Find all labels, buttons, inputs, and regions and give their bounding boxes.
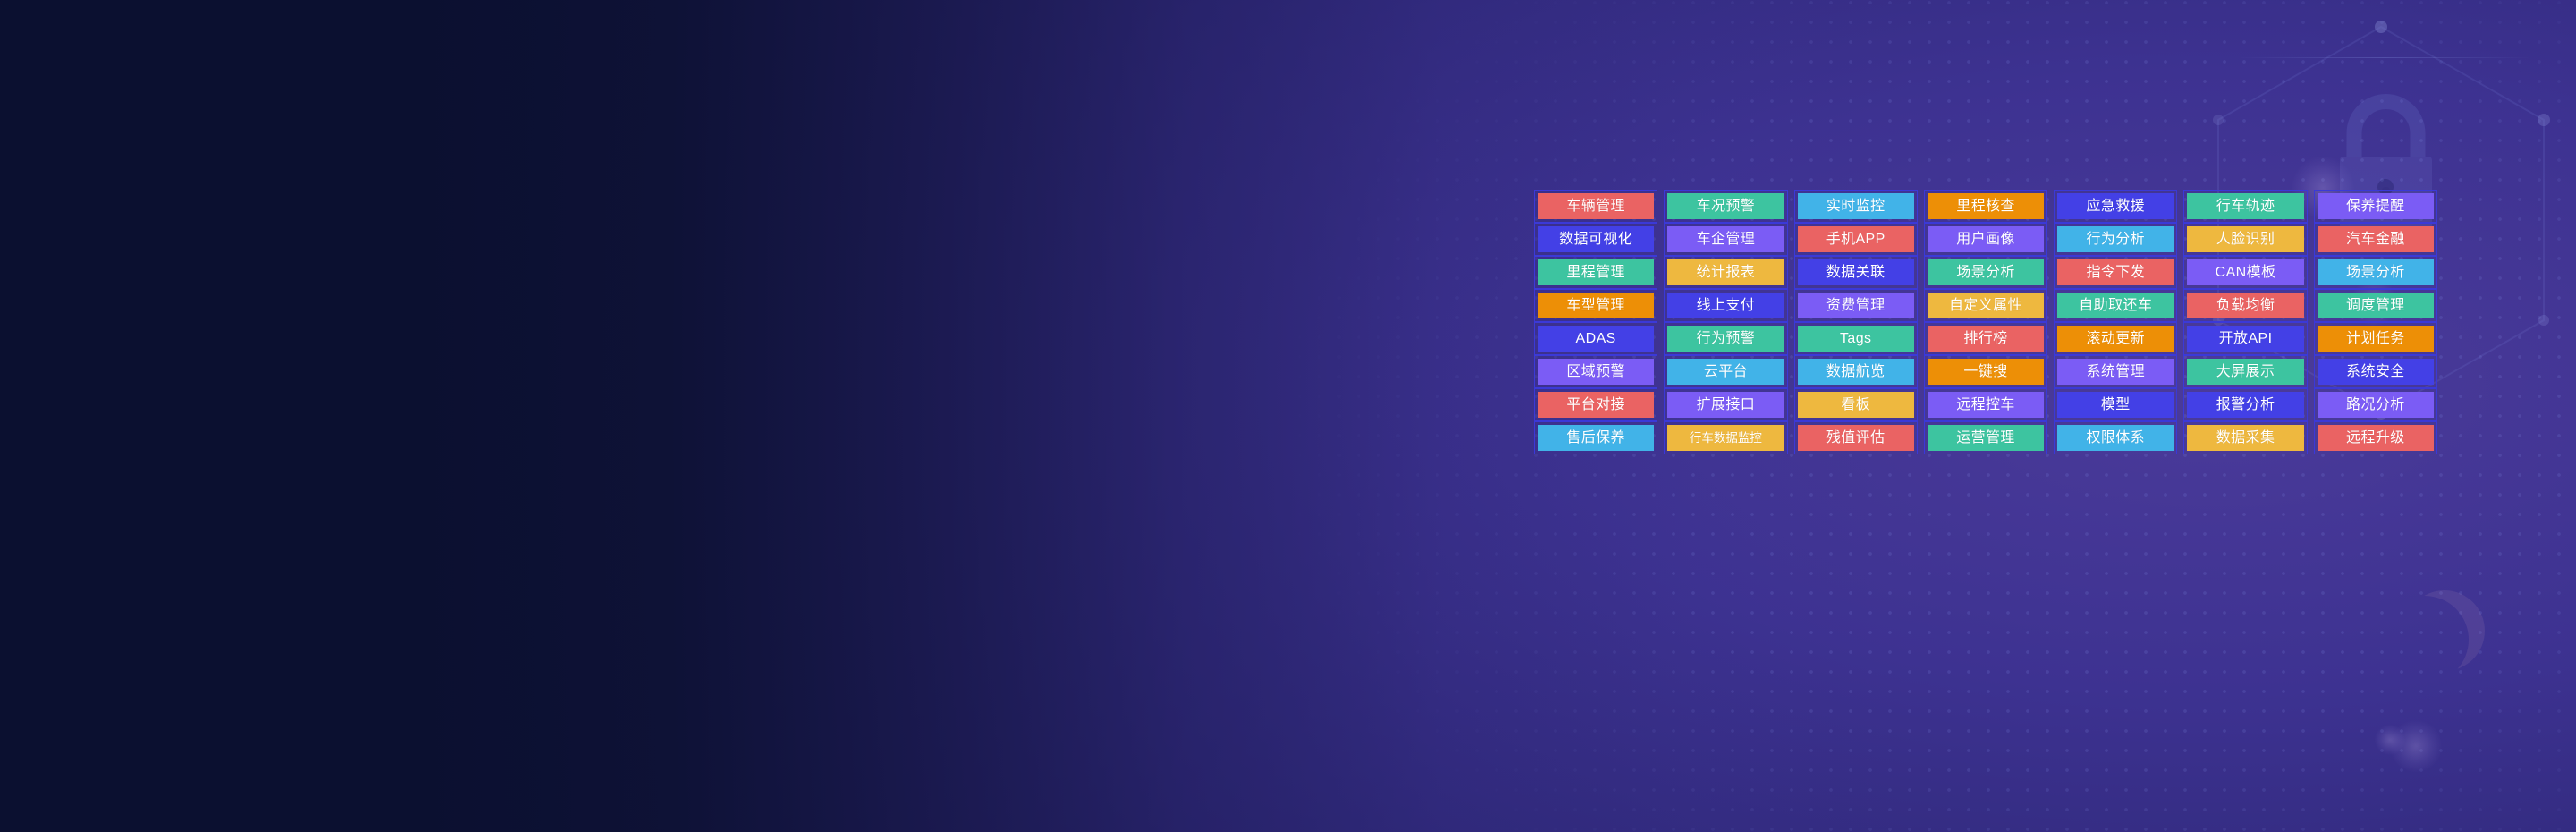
tag-label: 大屏展示 — [2187, 359, 2303, 385]
tag-label: 售后保养 — [1538, 425, 1654, 451]
tag-label: 车型管理 — [1538, 293, 1654, 318]
tag-cell[interactable]: 系统安全 — [2314, 355, 2437, 388]
tag-label: 用户画像 — [1928, 226, 2044, 252]
tag-cell[interactable]: 区域预警 — [1534, 355, 1657, 388]
tag-label: 里程核查 — [1928, 193, 2044, 219]
tag-cell[interactable]: 远程控车 — [1924, 388, 2047, 421]
tag-label: 运营管理 — [1928, 425, 2044, 451]
tag-label: 负载均衡 — [2187, 293, 2303, 318]
tag-label: 扩展接口 — [1667, 392, 1784, 418]
tag-label: 行车轨迹 — [2187, 193, 2303, 219]
tag-cell[interactable]: 调度管理 — [2314, 289, 2437, 322]
tag-label: 云平台 — [1667, 359, 1784, 385]
tag-label: 滚动更新 — [2057, 326, 2173, 352]
tag-cell[interactable]: 线上支付 — [1664, 289, 1787, 322]
tag-label: 开放API — [2187, 326, 2303, 352]
tag-label: 数据采集 — [2187, 425, 2303, 451]
tag-cell[interactable]: 车况预警 — [1664, 190, 1787, 223]
tag-cell[interactable]: 路况分析 — [2314, 388, 2437, 421]
tag-label: 保养提醒 — [2318, 193, 2434, 219]
tag-cell[interactable]: 运营管理 — [1924, 421, 2047, 454]
tag-label: 平台对接 — [1538, 392, 1654, 418]
tag-cell[interactable]: 计划任务 — [2314, 322, 2437, 355]
tag-label: 系统安全 — [2318, 359, 2434, 385]
tag-cell[interactable]: 指令下发 — [2054, 256, 2177, 289]
tag-cell[interactable]: 看板 — [1794, 388, 1918, 421]
tag-label: 区域预警 — [1538, 359, 1654, 385]
tag-cell[interactable]: 权限体系 — [2054, 421, 2177, 454]
tag-label: 残值评估 — [1798, 425, 1914, 451]
tag-cell[interactable]: 里程核查 — [1924, 190, 2047, 223]
tag-label: 数据航览 — [1798, 359, 1914, 385]
tag-cell[interactable]: 行为预警 — [1664, 322, 1787, 355]
tag-label: 汽车金融 — [2318, 226, 2434, 252]
tag-label: Tags — [1798, 326, 1914, 352]
tag-label: 应急救援 — [2057, 193, 2173, 219]
tag-cell[interactable]: 一键搜 — [1924, 355, 2047, 388]
tag-cell[interactable]: 滚动更新 — [2054, 322, 2177, 355]
tag-cell[interactable]: 自定义属性 — [1924, 289, 2047, 322]
tag-cell[interactable]: 里程管理 — [1534, 256, 1657, 289]
tag-cell[interactable]: Tags — [1794, 322, 1918, 355]
tag-label: 车辆管理 — [1538, 193, 1654, 219]
tag-label: 手机APP — [1798, 226, 1914, 252]
tag-cell[interactable]: 模型 — [2054, 388, 2177, 421]
tag-cell[interactable]: 平台对接 — [1534, 388, 1657, 421]
tag-label: CAN模板 — [2187, 259, 2303, 285]
tag-label: 调度管理 — [2318, 293, 2434, 318]
tag-label: 车企管理 — [1667, 226, 1784, 252]
tag-cell[interactable]: 扩展接口 — [1664, 388, 1787, 421]
tag-label: ADAS — [1538, 326, 1654, 352]
tag-label: 线上支付 — [1667, 293, 1784, 318]
tag-label: 自助取还车 — [2057, 293, 2173, 318]
tag-cell[interactable]: 云平台 — [1664, 355, 1787, 388]
tag-cell[interactable]: 残值评估 — [1794, 421, 1918, 454]
tag-label: 计划任务 — [2318, 326, 2434, 352]
tag-label: 一键搜 — [1928, 359, 2044, 385]
tag-cell[interactable]: 人脸识别 — [2183, 223, 2307, 256]
tag-label: 实时监控 — [1798, 193, 1914, 219]
tag-cell[interactable]: 手机APP — [1794, 223, 1918, 256]
tag-label: 车况预警 — [1667, 193, 1784, 219]
tag-cell[interactable]: 场景分析 — [1924, 256, 2047, 289]
tag-cell[interactable]: 排行榜 — [1924, 322, 2047, 355]
tag-label: 报警分析 — [2187, 392, 2303, 418]
tag-cell[interactable]: 用户画像 — [1924, 223, 2047, 256]
tag-cell[interactable]: 报警分析 — [2183, 388, 2307, 421]
tag-cell[interactable]: 大屏展示 — [2183, 355, 2307, 388]
tag-cell[interactable]: 应急救援 — [2054, 190, 2177, 223]
tag-label: 里程管理 — [1538, 259, 1654, 285]
feature-tag-grid: 车辆管理车况预警实时监控里程核查应急救援行车轨迹保养提醒数据可视化车企管理手机A… — [1534, 190, 2437, 454]
tag-label: 资费管理 — [1798, 293, 1914, 318]
tag-cell[interactable]: 自助取还车 — [2054, 289, 2177, 322]
tag-cell[interactable]: 场景分析 — [2314, 256, 2437, 289]
tag-cell[interactable]: 负载均衡 — [2183, 289, 2307, 322]
tag-cell[interactable]: 车辆管理 — [1534, 190, 1657, 223]
tag-label: 人脸识别 — [2187, 226, 2303, 252]
tag-label: 系统管理 — [2057, 359, 2173, 385]
tag-cell[interactable]: 数据可视化 — [1534, 223, 1657, 256]
tag-label: 远程升级 — [2318, 425, 2434, 451]
tag-cell[interactable]: CAN模板 — [2183, 256, 2307, 289]
tag-label: 场景分析 — [1928, 259, 2044, 285]
tag-cell[interactable]: 资费管理 — [1794, 289, 1918, 322]
tag-cell[interactable]: 行为分析 — [2054, 223, 2177, 256]
tag-label: 场景分析 — [2318, 259, 2434, 285]
tag-cell[interactable]: 数据航览 — [1794, 355, 1918, 388]
tag-cell[interactable]: 远程升级 — [2314, 421, 2437, 454]
tag-label: 路况分析 — [2318, 392, 2434, 418]
tag-cell[interactable]: 售后保养 — [1534, 421, 1657, 454]
tag-label: 远程控车 — [1928, 392, 2044, 418]
tag-cell[interactable]: 开放API — [2183, 322, 2307, 355]
tag-label: 排行榜 — [1928, 326, 2044, 352]
tag-label: 指令下发 — [2057, 259, 2173, 285]
tag-cell[interactable]: 实时监控 — [1794, 190, 1918, 223]
tag-label: 模型 — [2057, 392, 2173, 418]
tag-cell[interactable]: 保养提醒 — [2314, 190, 2437, 223]
tag-cell[interactable]: 行车轨迹 — [2183, 190, 2307, 223]
tag-label: 自定义属性 — [1928, 293, 2044, 318]
tag-label: 行为分析 — [2057, 226, 2173, 252]
tag-label: 看板 — [1798, 392, 1914, 418]
tag-cell[interactable]: 统计报表 — [1664, 256, 1787, 289]
tag-label: 数据可视化 — [1538, 226, 1654, 252]
screen-canvas: 车辆管理车况预警实时监控里程核查应急救援行车轨迹保养提醒数据可视化车企管理手机A… — [0, 0, 2576, 832]
tag-cell[interactable]: 车型管理 — [1534, 289, 1657, 322]
tag-label: 统计报表 — [1667, 259, 1784, 285]
tag-label: 行为预警 — [1667, 326, 1784, 352]
tag-cell[interactable]: 系统管理 — [2054, 355, 2177, 388]
tag-cell[interactable]: ADAS — [1534, 322, 1657, 355]
tag-cell[interactable]: 数据关联 — [1794, 256, 1918, 289]
tag-cell[interactable]: 车企管理 — [1664, 223, 1787, 256]
tag-cell[interactable]: 数据采集 — [2183, 421, 2307, 454]
tag-label: 数据关联 — [1798, 259, 1914, 285]
tag-cell[interactable]: 汽车金融 — [2314, 223, 2437, 256]
tag-cell[interactable]: 行车数据监控 — [1664, 421, 1787, 454]
tag-label: 权限体系 — [2057, 425, 2173, 451]
tag-label: 行车数据监控 — [1667, 425, 1784, 451]
